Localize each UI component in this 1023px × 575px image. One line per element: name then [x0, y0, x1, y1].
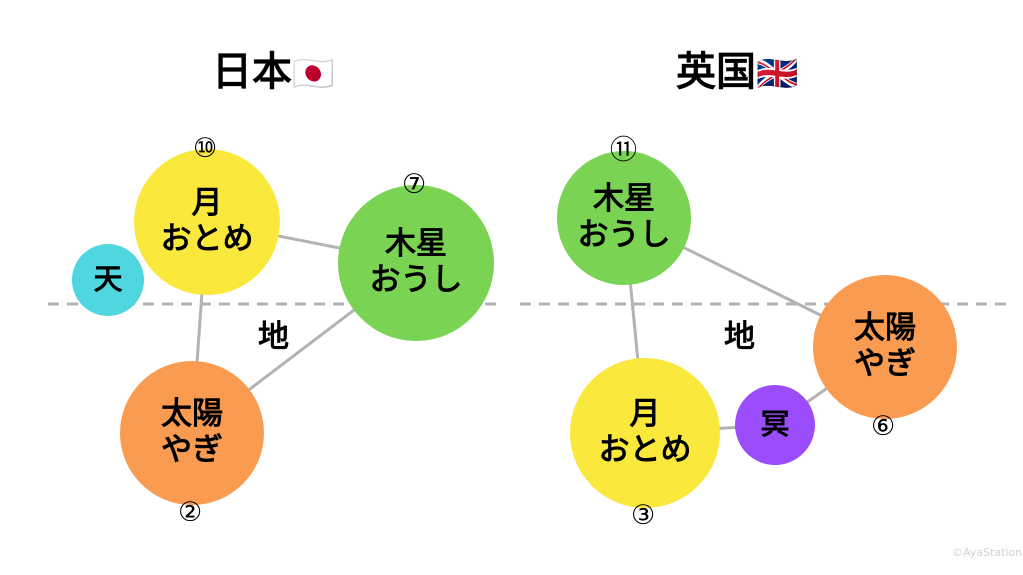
- sign-label-uk-jupiter: おうし: [578, 218, 671, 254]
- flag-icon-japan: 🇯🇵: [292, 54, 334, 94]
- horizon-label-uk: 地: [724, 322, 755, 353]
- sign-label-uk-moon: おとめ: [599, 433, 692, 469]
- house-badge-uk-moon: ③: [631, 502, 655, 529]
- flag-icon-uk: 🇬🇧: [756, 54, 798, 94]
- planet-label-jp-sun: 太陽: [161, 397, 223, 433]
- house-badge-uk-sun: ⑥: [871, 413, 895, 440]
- planet-label-uk-jupiter: 木星: [593, 182, 655, 218]
- aspect-line-uk-pluto-uk-sun: [806, 387, 828, 403]
- sign-label-jp-sun: やぎ: [161, 433, 223, 469]
- planet-label-uk-pluto: 冥: [760, 408, 789, 442]
- house-badge-jp-sun: ②: [178, 499, 202, 526]
- planet-node-jp-uranus[interactable]: 天: [72, 244, 144, 316]
- chart-title-text-uk: 英国: [676, 49, 756, 95]
- planet-label-jp-uranus: 天: [93, 263, 122, 297]
- aspect-line-uk-jupiter-uk-moon: [630, 283, 638, 361]
- sign-label-jp-jupiter: おうし: [370, 263, 463, 299]
- chart-title-text-japan: 日本: [212, 49, 292, 95]
- sign-label-uk-sun: やぎ: [854, 347, 916, 383]
- planet-node-jp-moon[interactable]: 月おとめ: [134, 149, 280, 295]
- chart-title-uk: 英国🇬🇧: [676, 52, 798, 92]
- house-badge-jp-moon: ⑩: [193, 135, 217, 162]
- planet-label-uk-sun: 太陽: [854, 311, 916, 347]
- aspect-line-uk-jupiter-uk-sun: [682, 247, 822, 316]
- planet-label-uk-moon: 月: [630, 397, 661, 433]
- planet-label-jp-moon: 月: [192, 186, 223, 222]
- horizon-label-japan: 地: [258, 322, 289, 353]
- house-badge-jp-jupiter: ⑦: [402, 171, 426, 198]
- credit-watermark: ©AyaStation: [952, 546, 1022, 559]
- house-badge-uk-jupiter: ⑪: [610, 137, 637, 164]
- sign-label-jp-moon: おとめ: [161, 222, 254, 258]
- chart-title-japan: 日本🇯🇵: [212, 52, 334, 92]
- planet-label-jp-jupiter: 木星: [385, 227, 447, 263]
- astrology-comparison-diagram: 天月おとめ⑩木星おうし⑦太陽やぎ②木星おうし⑪月おとめ③冥太陽やぎ⑥ ©AyaS…: [0, 0, 1023, 575]
- planet-node-uk-jupiter[interactable]: 木星おうし: [557, 151, 691, 285]
- planet-node-jp-sun[interactable]: 太陽やぎ: [120, 361, 264, 505]
- aspect-line-jp-moon-jp-jupiter: [277, 236, 342, 249]
- planet-node-jp-jupiter[interactable]: 木星おうし: [338, 185, 494, 341]
- planet-node-uk-sun[interactable]: 太陽やぎ: [813, 275, 957, 419]
- aspect-line-jp-moon-jp-sun: [197, 293, 202, 363]
- planet-node-uk-pluto[interactable]: 冥: [735, 385, 815, 465]
- planet-node-uk-moon[interactable]: 月おとめ: [570, 358, 720, 508]
